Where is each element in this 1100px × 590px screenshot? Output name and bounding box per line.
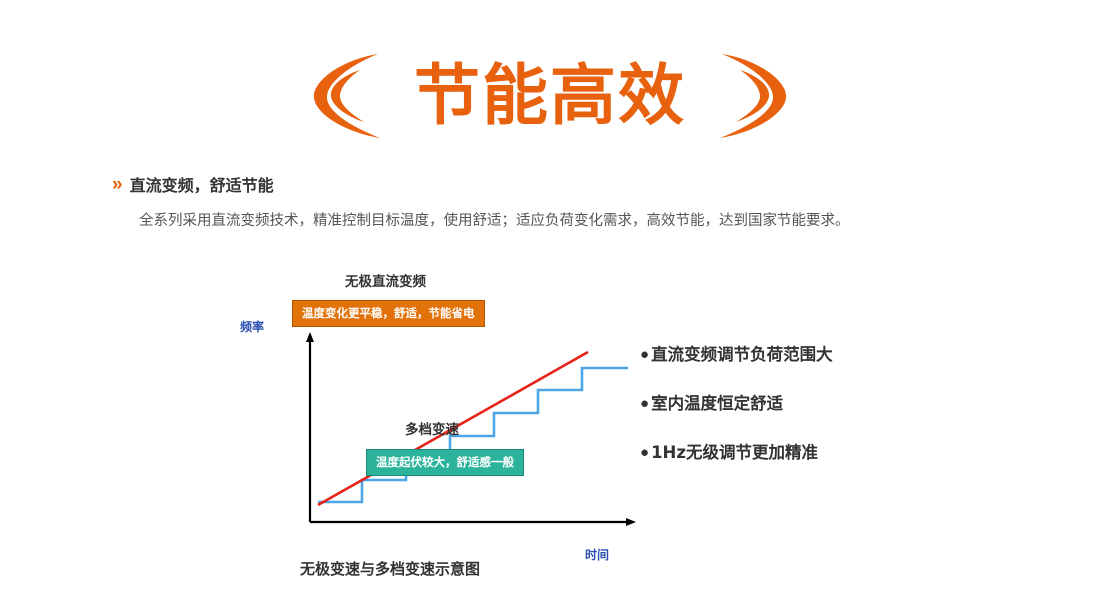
annotation-tag-multispeed: 温度起伏较大，舒适感一般 <box>366 449 524 476</box>
chart-caption: 无极变速与多档变速示意图 <box>300 558 480 579</box>
bullet-text: 直流变频调节负荷范围大 <box>651 344 833 365</box>
feature-bullet-list: ● 直流变频调节负荷范围大 ● 室内温度恒定舒适 ● 1Hz无级调节更加精准 <box>640 344 1020 491</box>
x-axis-label: 时间 <box>585 546 609 563</box>
y-axis-label: 频率 <box>240 318 264 335</box>
axis-group <box>306 332 636 526</box>
double-chevron-right-icon: » <box>112 175 123 194</box>
page-banner: 节能高效 <box>0 46 1100 146</box>
chart-plot-area <box>288 330 648 545</box>
annotation-tag-inverter: 温度变化更平稳，舒适，节能省电 <box>292 300 485 327</box>
chart-container: 无极直流变频 温度变化更平稳，舒适，节能省电 频率 多档变速 温度起伏较大，舒适… <box>240 270 670 590</box>
bullet-text: 1Hz无级调节更加精准 <box>651 442 818 463</box>
section-heading: » 直流变频，舒适节能 <box>112 172 274 196</box>
bullet-text: 室内温度恒定舒适 <box>651 393 783 414</box>
chart-series-title-multispeed: 多档变速 <box>405 418 459 438</box>
swoosh-right-icon <box>710 48 800 144</box>
section-paragraph: 全系列采用直流变频技术，精准控制目标温度，使用舒适；适应负荷变化需求，高效节能，… <box>139 209 999 234</box>
bullet-dot-icon: ● <box>640 344 649 365</box>
bullet-dot-icon: ● <box>640 442 649 463</box>
section-heading-text: 直流变频，舒适节能 <box>130 172 274 196</box>
list-item: ● 直流变频调节负荷范围大 <box>640 344 1020 365</box>
step-series-multispeed <box>318 368 628 502</box>
chart-series-title-inverter: 无极直流变频 <box>345 270 426 290</box>
list-item: ● 1Hz无级调节更加精准 <box>640 442 1020 463</box>
list-item: ● 室内温度恒定舒适 <box>640 393 1020 414</box>
bullet-dot-icon: ● <box>640 393 649 414</box>
